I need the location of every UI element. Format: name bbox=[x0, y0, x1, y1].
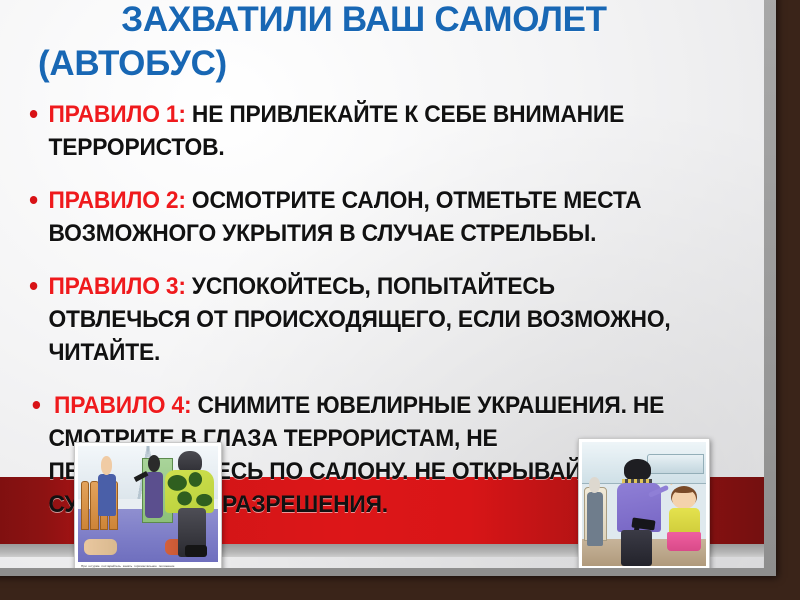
rule-4-colon: : bbox=[184, 392, 191, 419]
armed-terrorist bbox=[617, 459, 662, 566]
bullet-dot-icon bbox=[30, 196, 37, 204]
seat bbox=[81, 481, 90, 530]
camouflage-jacket bbox=[165, 470, 214, 513]
elderly-passenger bbox=[587, 492, 603, 547]
submachine-gun-icon bbox=[631, 517, 655, 530]
rule-2-label: ПРАВИЛО 2 bbox=[48, 187, 178, 214]
terrorist-in-cabin-illustration: Террористы разоружают пассажиров в салон… bbox=[578, 438, 710, 568]
rule-2-colon: : bbox=[178, 187, 185, 214]
bullet-dot-icon bbox=[30, 282, 37, 290]
terrorist-legs bbox=[621, 530, 651, 566]
slide-backdrop: ЗАХВАТИЛИ ВАШ САМОЛЕТ (АВТОБУС) ПРАВИЛО … bbox=[0, 0, 800, 600]
rule-item-1: ПРАВИЛО 1: НЕ ПРИВЛЕКАЙТЕ К СЕБЕ ВНИМАНИ… bbox=[28, 98, 690, 164]
rule-1-colon: : bbox=[178, 101, 185, 128]
slide-title: ЗАХВАТИЛИ ВАШ САМОЛЕТ (АВТОБУС) bbox=[14, 0, 714, 86]
rule-3-colon: : bbox=[178, 273, 185, 300]
balaclava-head bbox=[624, 459, 651, 480]
seated-girl-passenger bbox=[666, 489, 703, 556]
storming-illustration-caption: При штурме постарайтесь занять горизонта… bbox=[78, 562, 218, 568]
storming-illustration-art bbox=[78, 446, 218, 562]
seated-passenger bbox=[98, 474, 116, 516]
slide-title-line-1: ЗАХВАТИЛИ ВАШ САМОЛЕТ bbox=[121, 0, 606, 39]
bullet-dot-icon bbox=[30, 110, 37, 118]
prone-passenger bbox=[84, 539, 118, 555]
bullet-dot-icon bbox=[33, 401, 40, 409]
terrorist-in-cabin-art bbox=[582, 442, 706, 566]
rule-1-label: ПРАВИЛО 1 bbox=[48, 101, 178, 128]
slide-title-line-2: (АВТОБУС) bbox=[14, 42, 714, 86]
girl-shirt bbox=[669, 508, 700, 535]
girl-skirt bbox=[667, 532, 701, 551]
rule-4-label: ПРАВИЛО 4 bbox=[48, 392, 183, 419]
masked-figure-in-doorway bbox=[145, 472, 163, 518]
rule-item-3: ПРАВИЛО 3: УСПОКОЙТЕСЬ, ПОПЫТАЙТЕСЬ ОТВЛ… bbox=[28, 270, 690, 369]
slide-frame: ЗАХВАТИЛИ ВАШ САМОЛЕТ (АВТОБУС) ПРАВИЛО … bbox=[0, 0, 776, 576]
rule-3-label: ПРАВИЛО 3 bbox=[48, 273, 178, 300]
rule-item-2: ПРАВИЛО 2: ОСМОТРИТЕ САЛОН, ОТМЕТЬТЕ МЕС… bbox=[28, 184, 690, 250]
soldier-boot bbox=[185, 545, 206, 558]
terrorist-in-cabin-caption: Террористы разоружают пассажиров в салон… bbox=[582, 566, 706, 568]
storming-illustration: При штурме постарайтесь занять горизонта… bbox=[74, 442, 222, 568]
girl-hair bbox=[674, 488, 694, 492]
slide-canvas: ЗАХВАТИЛИ ВАШ САМОЛЕТ (АВТОБУС) ПРАВИЛО … bbox=[0, 0, 764, 568]
assault-soldier bbox=[162, 451, 215, 558]
girl-head bbox=[672, 489, 697, 509]
